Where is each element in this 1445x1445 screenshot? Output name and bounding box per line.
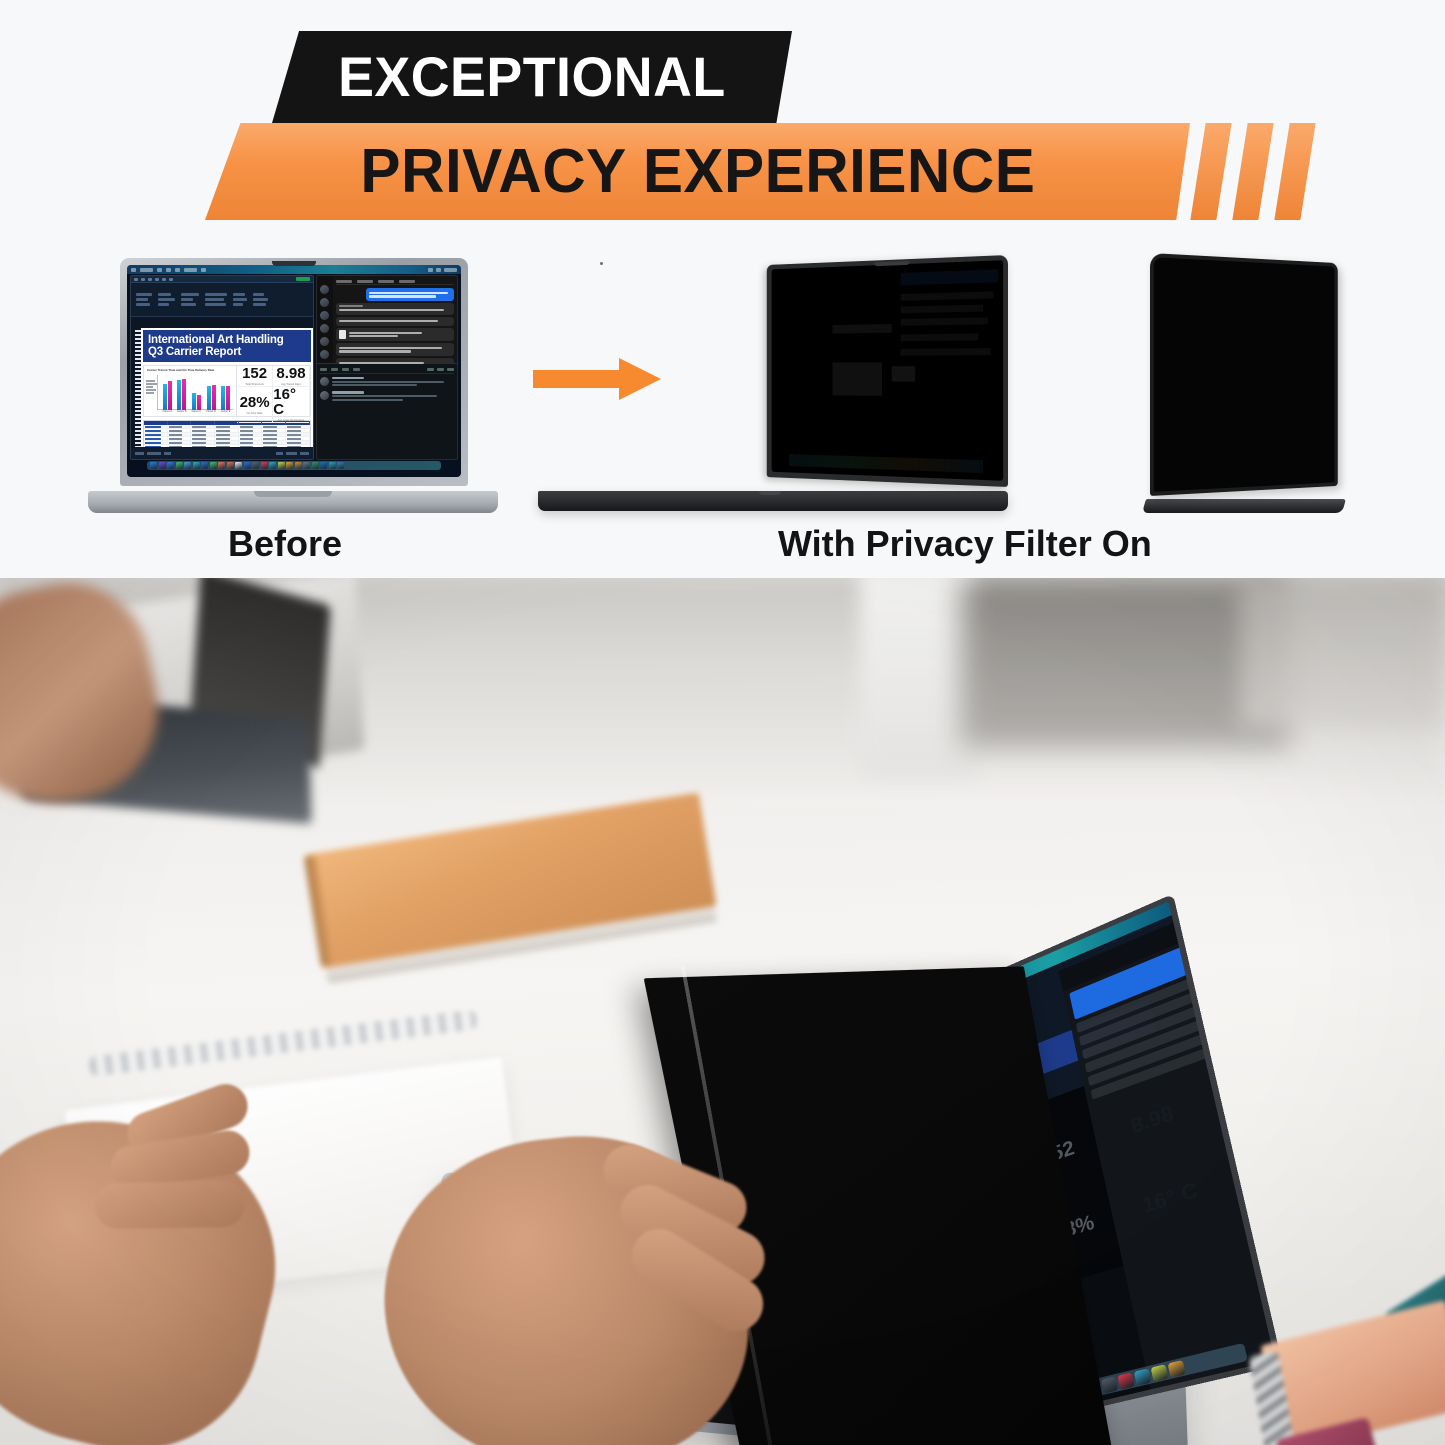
x-tick-label: Carrier B (177, 410, 187, 416)
decorative-stripe-1 (1190, 123, 1231, 220)
table-cell (215, 445, 239, 447)
table-cell (215, 441, 239, 444)
ghost-content (772, 260, 1004, 481)
macos-dock[interactable] (147, 461, 441, 470)
table-cell (144, 429, 168, 432)
bar-group (163, 375, 172, 410)
window-titlebar (131, 276, 313, 283)
bar-group (207, 375, 216, 410)
dock-icon[interactable] (286, 462, 293, 469)
chart-plot-area (160, 375, 233, 410)
bar (192, 393, 196, 411)
table-cell (286, 441, 310, 444)
laptop-base (1142, 499, 1346, 513)
chart-caption: Carrier Transit Time and On-Time Deliver… (147, 368, 233, 372)
chat-bubble-incoming (336, 303, 454, 314)
table-cell (286, 429, 310, 432)
report-title-block: International Art Handling Q3 Carrier Re… (143, 330, 311, 362)
table-cell (262, 429, 286, 432)
avatar (320, 391, 329, 400)
x-tick-label: Carrier A (162, 410, 171, 416)
table-cell (168, 445, 192, 447)
bar-group (177, 375, 186, 410)
table-cell (262, 437, 286, 440)
headline-line-2: PRIVACY EXPERIENCE (360, 141, 1035, 203)
table-cell (262, 441, 286, 444)
bar (197, 395, 201, 410)
dock-icon[interactable] (261, 462, 268, 469)
avatar (320, 311, 329, 320)
kpi-label: Total Shipments (245, 383, 263, 386)
dock-icon (1167, 1359, 1185, 1377)
comparison-panel: EXCEPTIONAL PRIVACY EXPERIENCE (0, 0, 1445, 578)
chat-avatar-rail[interactable] (317, 276, 333, 363)
kpi-value: 28% (240, 395, 270, 410)
bar (212, 385, 216, 410)
headline-banner-secondary: PRIVACY EXPERIENCE (205, 123, 1190, 220)
bar (177, 380, 181, 410)
ribbon-group (253, 293, 268, 306)
dock-icon[interactable] (244, 462, 251, 469)
table-cell (215, 425, 239, 428)
dock-icon[interactable] (320, 462, 327, 469)
laptop-lid (1150, 253, 1338, 496)
chat-conversation-panel[interactable] (317, 276, 457, 364)
table-cell (191, 441, 215, 444)
dock-icon[interactable] (303, 462, 310, 469)
document-margin-rule (135, 328, 141, 447)
bar-group (221, 375, 230, 410)
kpi-card: 8.98Avg Transit Days (273, 366, 309, 387)
laptop-base (538, 491, 1008, 511)
document-status-bar (131, 448, 313, 459)
dock-icon[interactable] (167, 462, 174, 469)
ribbon-group (181, 293, 199, 306)
table-cell (286, 437, 310, 440)
table-cell (168, 429, 192, 432)
background-shadow-right (1240, 578, 1445, 728)
table-cell (215, 437, 239, 440)
table-cell (191, 433, 215, 436)
table-row[interactable] (144, 445, 310, 447)
laptop-lid (767, 255, 1008, 487)
table-cell (239, 425, 263, 428)
caption-after: With Privacy Filter On (778, 523, 1152, 565)
bar (168, 381, 172, 410)
dock-icon[interactable] (210, 462, 217, 469)
report-title-line2: Q3 Carrier Report (148, 346, 306, 358)
avatar (320, 337, 329, 346)
chart-legend (146, 380, 157, 395)
dock-icon (1134, 1368, 1152, 1386)
table-cell (191, 425, 215, 428)
darkened-screen (1154, 257, 1335, 492)
kpi-label: On-Time Rate (246, 412, 262, 415)
dock-icon (1101, 1376, 1118, 1393)
darkened-screen (772, 260, 1004, 481)
base-indicator-dot (600, 262, 603, 265)
kpi-card: 152Total Shipments (237, 366, 273, 387)
file-icon (339, 330, 346, 339)
dock-icon[interactable] (329, 462, 336, 469)
table-cell (239, 445, 263, 447)
avatar (320, 377, 329, 386)
bar (221, 386, 225, 410)
feed-post (320, 391, 454, 402)
chart-x-tick-labels: Carrier ACarrier BCarrier CCarrier DCarr… (160, 410, 233, 416)
dock-icon[interactable] (193, 462, 200, 469)
headline-banner-primary: EXCEPTIONAL (272, 31, 792, 123)
bar (207, 386, 211, 411)
feed-toolbar[interactable] (320, 367, 454, 374)
kpi-value: 152 (242, 366, 267, 381)
decorative-stripe-3 (1274, 123, 1315, 220)
filtered-laptop-side (1150, 253, 1430, 515)
chat-window[interactable] (316, 275, 458, 460)
kpi-value: 8.98 (276, 366, 305, 381)
kpi-card: 16° CAvg Crate Temperature (273, 387, 309, 423)
ribbon-group (233, 293, 247, 306)
table-cell (286, 433, 310, 436)
table-cell (262, 433, 286, 436)
table-cell (144, 433, 168, 436)
headline-line-1: EXCEPTIONAL (338, 49, 726, 105)
document-canvas: International Art Handling Q3 Carrier Re… (135, 328, 313, 447)
x-tick-label: Carrier E (221, 410, 231, 416)
dock-icon[interactable] (227, 462, 234, 469)
report-title-line1: International Art Handling (148, 334, 306, 346)
avatar (320, 324, 329, 333)
product-infographic: EXCEPTIONAL PRIVACY EXPERIENCE (0, 0, 1445, 1445)
ribbon-toolbar[interactable] (131, 283, 313, 317)
ribbon-group (136, 293, 152, 306)
chat-file-attachment[interactable] (336, 328, 454, 341)
avatar (320, 285, 329, 294)
x-tick-label: Carrier D (206, 410, 216, 416)
caption-before: Before (228, 523, 342, 565)
table-cell (262, 445, 286, 447)
avatar (320, 350, 329, 359)
lifestyle-photo: ASDFGHJKL; ZXCVBNM,./ Intern Q3 Carrier … (0, 578, 1445, 1445)
dock-icon[interactable] (159, 462, 166, 469)
table-cell (168, 425, 192, 428)
data-table[interactable] (143, 420, 311, 447)
dock-icon[interactable] (295, 462, 302, 469)
filtered-laptop-front (538, 255, 1008, 515)
chat-bubble-incoming (336, 343, 454, 356)
table-cell (239, 437, 263, 440)
bar-chart: Carrier Transit Time and On-Time Deliver… (143, 365, 237, 417)
x-tick-label: Carrier C (191, 410, 201, 416)
bar (163, 384, 167, 411)
table-cell (191, 429, 215, 432)
table-cell (215, 433, 239, 436)
chat-bubble-incoming (336, 317, 454, 326)
dock-icon[interactable] (201, 462, 208, 469)
table-cell (168, 437, 192, 440)
table-cell (168, 441, 192, 444)
dock-icon[interactable] (278, 462, 285, 469)
table-cell (286, 425, 310, 428)
document-window[interactable]: International Art Handling Q3 Carrier Re… (130, 275, 314, 460)
dock-icon (1117, 1372, 1134, 1389)
laptop-screen: International Art Handling Q3 Carrier Re… (127, 265, 461, 477)
table-cell (144, 425, 168, 428)
bar-group (192, 375, 201, 410)
chat-header (336, 278, 454, 285)
table-cell (144, 437, 168, 440)
table-cell (144, 445, 168, 447)
table-cell (286, 445, 310, 447)
avatar (320, 298, 329, 307)
dock-icon[interactable] (235, 462, 242, 469)
macos-menubar (127, 265, 461, 274)
kpi-grid: 152Total Shipments8.98Avg Transit Days28… (237, 365, 311, 417)
decorative-stripe-2 (1232, 123, 1273, 220)
ribbon-group (158, 293, 175, 306)
ribbon-group (205, 293, 227, 306)
laptop-lid: International Art Handling Q3 Carrier Re… (120, 258, 468, 486)
table-cell (239, 441, 263, 444)
table-cell (239, 429, 263, 432)
dock-icon[interactable] (150, 462, 157, 469)
table-cell (262, 425, 286, 428)
laptop-base (88, 491, 498, 513)
feed-post (320, 377, 454, 388)
table-cell (191, 445, 215, 447)
dock-icon[interactable] (312, 462, 319, 469)
bar (182, 379, 186, 411)
dock-icon[interactable] (218, 462, 225, 469)
table-cell (215, 429, 239, 432)
table-cell (191, 437, 215, 440)
kpi-value: 16° C (273, 387, 308, 417)
dock-icon[interactable] (184, 462, 191, 469)
dock-icon[interactable] (252, 462, 259, 469)
feed-panel[interactable] (317, 364, 457, 459)
table-cell (239, 433, 263, 436)
dock-icon[interactable] (337, 462, 344, 469)
dock-icon[interactable] (176, 462, 183, 469)
before-laptop-illustration: International Art Handling Q3 Carrier Re… (88, 258, 498, 513)
table-cell (168, 433, 192, 436)
chat-bubble-outgoing (366, 288, 454, 301)
kpi-card: 28%On-Time Rate (237, 387, 273, 423)
dock-icon[interactable] (269, 462, 276, 469)
finger (95, 1181, 246, 1230)
table-cell (144, 441, 168, 444)
bar (226, 386, 230, 411)
dock-icon (1150, 1364, 1168, 1382)
